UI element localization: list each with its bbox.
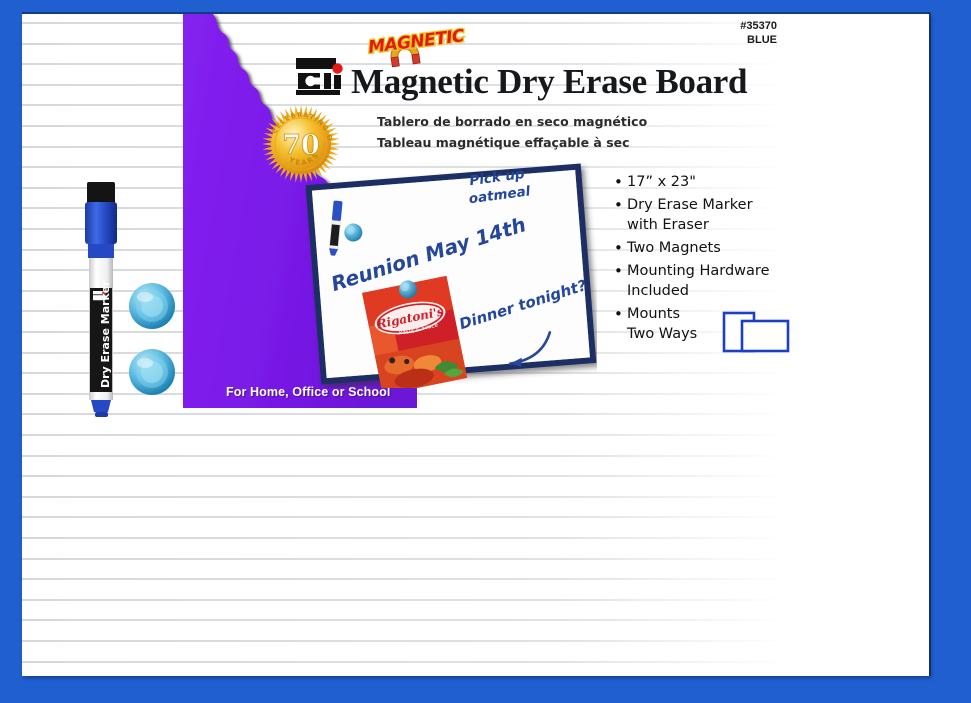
- marker-product-photo: Dry Erase Marker: [80, 180, 124, 420]
- rule-line: [22, 455, 788, 457]
- feature-label: Mounts Two Ways: [627, 304, 697, 344]
- rule-line: [22, 413, 788, 415]
- subtitle-french: Tableau magnétique effaçable à sec: [377, 135, 630, 150]
- bullet-icon: •: [614, 238, 627, 258]
- page-title: Magnetic Dry Erase Board: [351, 62, 747, 102]
- feature-label: 17” x 23": [627, 172, 696, 192]
- rule-line: [22, 475, 788, 477]
- rule-line: [22, 599, 788, 601]
- marker-label: Dry Erase Marker: [99, 280, 112, 388]
- feature-item: •17” x 23": [614, 172, 814, 192]
- rule-line: [22, 578, 788, 580]
- cli-logo: [294, 56, 352, 102]
- feature-label: Mounting Hardware Included: [627, 261, 770, 301]
- feature-item: •Two Magnets: [614, 238, 814, 258]
- rule-line: [22, 434, 788, 436]
- feature-item: •Mounting Hardware Included: [614, 261, 814, 301]
- rule-line: [22, 558, 788, 560]
- sku-number: #35370: [740, 20, 777, 34]
- magnet-2: [129, 349, 175, 395]
- subtitle-spanish: Tablero de borrado en seco magnético: [377, 114, 647, 129]
- rule-line: [22, 516, 788, 518]
- whiteboard-photo: Pick up oatmeal Reunion May 14th Rigaton…: [305, 162, 597, 388]
- rule-line: [22, 537, 788, 539]
- feature-label: Dry Erase Marker with Eraser: [627, 195, 753, 235]
- sku-color: BLUE: [740, 34, 777, 48]
- rule-line: [22, 496, 788, 498]
- bullet-icon: •: [614, 172, 627, 192]
- rule-line: [22, 619, 788, 621]
- package-frame: For Home, Office or School #35370 BLUE M…: [0, 0, 971, 703]
- bullet-icon: •: [614, 304, 627, 344]
- feature-item: •Dry Erase Marker with Eraser: [614, 195, 814, 235]
- sku-block: #35370 BLUE: [740, 20, 777, 48]
- magnets-product-photo: [126, 280, 178, 400]
- feature-label: Two Magnets: [627, 238, 721, 258]
- mounts-two-ways-icon: [722, 311, 794, 357]
- package-face: For Home, Office or School #35370 BLUE M…: [22, 14, 929, 676]
- rule-line: [22, 661, 788, 663]
- rule-line: [22, 640, 788, 642]
- bullet-icon: •: [614, 261, 627, 301]
- magnet-1: [129, 283, 175, 329]
- bullet-icon: •: [614, 195, 627, 235]
